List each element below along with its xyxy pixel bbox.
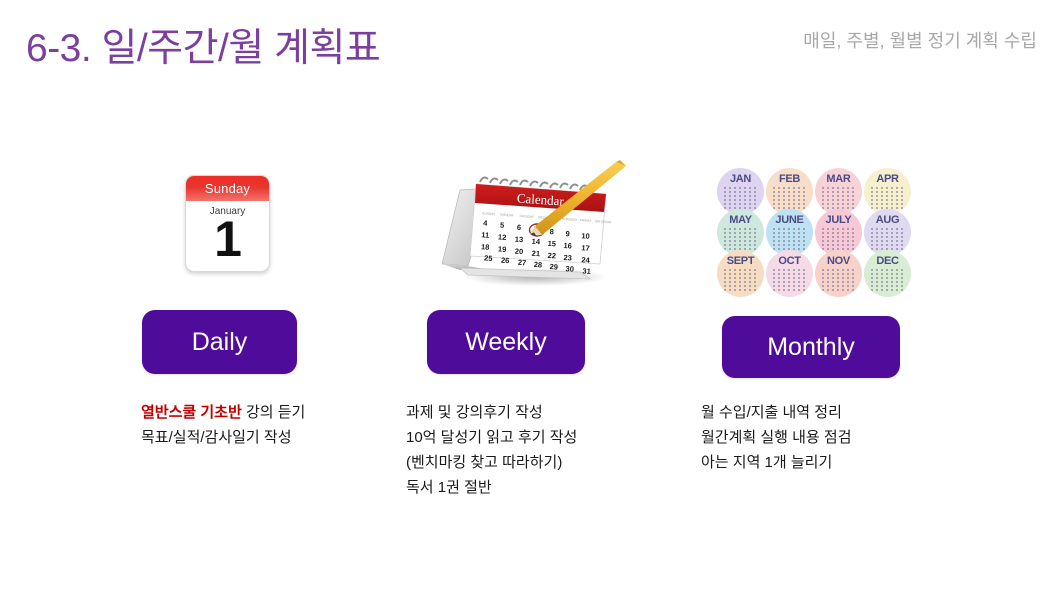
description-line: 과제 및 강의후기 작성 [406,400,577,425]
svg-text:20: 20 [515,247,524,257]
svg-text:25: 25 [484,253,493,263]
month-label: APR [876,174,898,185]
svg-text:10: 10 [581,231,590,241]
month-badge: JULY [815,209,862,256]
highlighted-text: 열반스쿨 기초반 [141,404,242,421]
month-badge: FEB [766,168,813,215]
svg-text:21: 21 [531,249,540,259]
svg-text:8: 8 [549,227,554,236]
twelve-month-circles-icon: JANFEBMARAPRMAYJUNEJULYAUGSEPTOCTNOVDEC [717,168,913,291]
description-line: 아는 지역 1개 늘리기 [701,450,852,475]
desk-calendar-pencil-icon: Calendar SUNDAY MONDAY TUESDAY WEDNESDAY… [430,160,630,288]
svg-text:11: 11 [481,230,490,240]
slide-canvas: 6-3. 일/주간/월 계획표 매일, 주별, 월별 정기 계획 수립 Sund… [0,0,1055,593]
month-mini-grid [871,187,905,209]
month-mini-grid [724,228,758,250]
calendar-day-number: 1 [186,213,269,265]
month-badge: JUNE [766,209,813,256]
month-label: OCT [778,256,800,267]
month-label: FEB [779,174,800,185]
description-line: 목표/실적/감사일기 작성 [141,425,305,450]
month-label: NOV [827,256,850,267]
svg-text:31: 31 [582,266,591,276]
daily-description: 열반스쿨 기초반 강의 듣기목표/실적/감사일기 작성 [141,400,305,450]
svg-text:23: 23 [563,253,572,263]
month-mini-grid [724,269,758,291]
month-mini-grid [871,228,905,250]
planner-columns: Sunday January 1 [0,0,1055,593]
description-line: 10억 달성기 읽고 후기 작성 [406,425,577,450]
plain-text: 강의 듣기 [242,404,306,421]
svg-text:13: 13 [515,235,524,245]
month-badge: OCT [766,250,813,297]
month-mini-grid [773,269,807,291]
month-label: MAR [826,174,850,185]
monthly-icon-area: JANFEBMARAPRMAYJUNEJULYAUGSEPTOCTNOVDEC [690,160,980,290]
plain-text: (벤치마킹 찾고 따라하기) [406,454,562,471]
month-badge: SEPT [717,250,764,297]
svg-text:22: 22 [547,251,556,261]
svg-text:18: 18 [481,242,490,252]
month-badge: AUG [864,209,911,256]
svg-text:12: 12 [498,232,507,242]
description-line: (벤치마킹 찾고 따라하기) [406,450,577,475]
weekly-icon-area: Calendar SUNDAY MONDAY TUESDAY WEDNESDAY… [400,160,660,290]
svg-text:6: 6 [517,223,522,232]
month-label: MAY [729,215,752,226]
plain-text: 과제 및 강의후기 작성 [406,404,543,421]
month-badge: APR [864,168,911,215]
month-label: AUG [876,215,900,226]
month-badge: NOV [815,250,862,297]
month-mini-grid [773,187,807,209]
month-badge: JAN [717,168,764,215]
monthly-button[interactable]: Monthly [722,316,900,378]
month-mini-grid [822,187,856,209]
month-label: SEPT [727,256,755,267]
month-label: DEC [876,256,898,267]
plain-text: 10억 달성기 읽고 후기 작성 [406,429,577,446]
month-mini-grid [773,228,807,250]
plain-text: 아는 지역 1개 늘리기 [701,454,832,471]
month-badge: MAR [815,168,862,215]
month-label: JUNE [775,215,803,226]
month-badge: MAY [717,209,764,256]
svg-text:29: 29 [549,262,558,272]
month-badge: DEC [864,250,911,297]
description-line: 열반스쿨 기초반 강의 듣기 [141,400,305,425]
weekly-button[interactable]: Weekly [427,310,585,374]
plain-text: 월 수입/지출 내역 정리 [701,404,842,421]
month-label: JULY [826,215,852,226]
month-mini-grid [822,228,856,250]
monthly-description: 월 수입/지출 내역 정리월간계획 실행 내용 점검아는 지역 1개 늘리기 [701,400,852,475]
svg-text:30: 30 [565,264,574,274]
svg-text:19: 19 [498,244,507,254]
svg-text:14: 14 [531,237,541,247]
calendar-weekday-label: Sunday [186,176,269,201]
svg-text:16: 16 [563,241,572,251]
desk-calendar-svg: Calendar SUNDAY MONDAY TUESDAY WEDNESDAY… [430,160,630,288]
description-line: 월 수입/지출 내역 정리 [701,400,852,425]
svg-text:24: 24 [581,255,591,265]
month-label: JAN [730,174,751,185]
daily-icon-area: Sunday January 1 [120,160,370,290]
month-mini-grid [871,269,905,291]
description-line: 독서 1권 절반 [406,475,577,500]
svg-text:5: 5 [500,221,505,230]
plain-text: 목표/실적/감사일기 작성 [141,429,292,446]
weekly-description: 과제 및 강의후기 작성10억 달성기 읽고 후기 작성(벤치마킹 찾고 따라하… [406,400,577,500]
calendar-day-icon: Sunday January 1 [185,175,270,272]
svg-text:17: 17 [581,243,590,253]
svg-text:27: 27 [518,258,527,268]
plain-text: 독서 1권 절반 [406,479,492,496]
description-line: 월간계획 실행 내용 점검 [701,425,852,450]
month-mini-grid [724,187,758,209]
svg-text:26: 26 [501,256,510,266]
svg-text:9: 9 [565,229,570,238]
month-mini-grid [822,269,856,291]
svg-text:15: 15 [547,239,556,249]
daily-button[interactable]: Daily [142,310,297,374]
svg-text:28: 28 [533,260,542,270]
plain-text: 월간계획 실행 내용 점검 [701,429,852,446]
